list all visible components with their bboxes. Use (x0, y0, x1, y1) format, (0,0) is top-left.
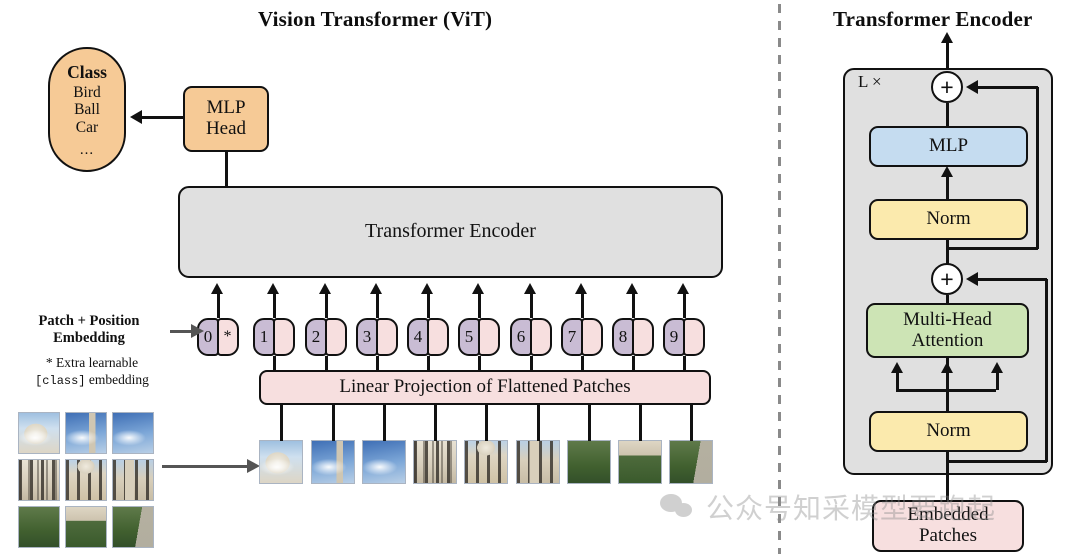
mlp-head-line2: Head (206, 119, 246, 140)
skip-bottom-horizontal-upper (977, 278, 1047, 281)
skip-bottom-arrowhead (966, 272, 978, 286)
token-3-position: 3 (356, 318, 378, 356)
flattened-patch-7 (567, 440, 611, 484)
patch-position-arrow-line (170, 330, 192, 333)
skip-top-horizontal-lower (946, 247, 1038, 250)
flattened-patch-4-connector (434, 405, 437, 441)
token-8-position: 8 (612, 318, 634, 356)
flattened-patch-5 (464, 440, 508, 484)
class-item-ball: Ball (74, 101, 100, 118)
multi-head-attention-block: Multi-Head Attention (866, 303, 1029, 358)
embedded-to-norm2-line (946, 452, 949, 502)
patch-position-line2: Embedding (13, 330, 165, 347)
token-6-embedding (530, 318, 552, 356)
token-4-to-encoder-line (427, 290, 430, 318)
mha-label-line1: Multi-Head (903, 310, 992, 331)
class-item-car: Car (76, 119, 98, 136)
token-3-embedding (376, 318, 398, 356)
patch-position-line1: Patch + Position (13, 313, 165, 330)
image-to-patches-line (162, 465, 248, 468)
token-5-position: 5 (458, 318, 480, 356)
norm-block-upper-label: Norm (926, 209, 970, 230)
source-patch-2 (65, 412, 107, 454)
flattened-patch-3 (362, 440, 406, 484)
token-7-position: 7 (561, 318, 583, 356)
skip-bottom-horizontal-lower (946, 460, 1047, 463)
token-2-position: 2 (305, 318, 327, 356)
token-4-position: 4 (407, 318, 429, 356)
source-patch-8 (65, 506, 107, 548)
diagram-canvas: Vision Transformer (ViT) Class Bird Ball… (0, 0, 1080, 558)
class-header: Class (67, 62, 107, 83)
transformer-encoder-box: Transformer Encoder (178, 186, 723, 278)
token-0-to-encoder-arrowhead (211, 283, 223, 294)
source-patch-7 (18, 506, 60, 548)
wechat-icon (660, 494, 696, 520)
residual-add-bottom: + (931, 263, 963, 295)
mlp-block: MLP (869, 126, 1028, 167)
patch-position-arrowhead (191, 324, 204, 338)
token-8-to-encoder-line (632, 290, 635, 318)
token-0-embedding: * (217, 318, 239, 356)
token-7-to-encoder-arrowhead (575, 283, 587, 294)
flattened-patch-8 (618, 440, 662, 484)
right-panel-title: Transformer Encoder (833, 7, 1033, 32)
embedded-patches-box: Embedded Patches (872, 500, 1024, 552)
token-5-to-encoder-line (478, 290, 481, 318)
source-patch-1 (18, 412, 60, 454)
token-2-to-encoder-line (325, 290, 328, 318)
mha-label-line2: Attention (912, 331, 984, 352)
token-9-position: 9 (663, 318, 685, 356)
skip-bottom-vertical (1045, 279, 1048, 462)
qkv-arrowhead-left (891, 362, 903, 373)
norm-block-lower-label: Norm (926, 421, 970, 442)
token-8: 8 (612, 318, 654, 356)
token-8-to-encoder-arrowhead (626, 283, 638, 294)
token-1-position: 1 (253, 318, 275, 356)
source-patch-6 (112, 459, 154, 501)
token-5: 5 (458, 318, 500, 356)
flattened-patch-1-connector (280, 405, 283, 441)
flattened-patch-9 (669, 440, 713, 484)
mlp-block-label: MLP (929, 136, 968, 157)
source-patch-9 (112, 506, 154, 548)
token-9: 9 (663, 318, 705, 356)
token-0-to-encoder-line (217, 290, 220, 318)
flattened-patch-9-connector (690, 405, 693, 441)
token-1: 1 (253, 318, 295, 356)
source-patch-5 (65, 459, 107, 501)
token-9-embedding (683, 318, 705, 356)
flattened-patch-4 (413, 440, 457, 484)
extra-learnable-label: * Extra learnable [class] embedding (16, 355, 168, 389)
mlp-to-class-arrowhead (130, 110, 142, 124)
token-3-to-encoder-line (376, 290, 379, 318)
token-6-to-encoder-line (530, 290, 533, 318)
skip-top-vertical (1036, 87, 1039, 249)
token-3: 3 (356, 318, 398, 356)
token-2: 2 (305, 318, 347, 356)
extra-learnable-line2: [class] embedding (16, 372, 168, 389)
mlp-head-connector (225, 152, 228, 188)
flattened-patch-2-connector (332, 405, 335, 441)
token-5-embedding (478, 318, 500, 356)
token-8-embedding (632, 318, 654, 356)
token-1-embedding (273, 318, 295, 356)
mlp-head-line1: MLP (206, 98, 245, 119)
flattened-patch-6 (516, 440, 560, 484)
norm-block-lower: Norm (869, 411, 1028, 452)
residual-add-top: + (931, 71, 963, 103)
norm-block-upper: Norm (869, 199, 1028, 240)
flattened-patch-8-connector (639, 405, 642, 441)
token-4: 4 (407, 318, 449, 356)
transformer-encoder-label: Transformer Encoder (365, 221, 536, 243)
flattened-patch-3-connector (383, 405, 386, 441)
class-item-bird: Bird (73, 84, 101, 101)
token-1-to-encoder-line (273, 290, 276, 318)
linear-projection-box: Linear Projection of Flattened Patches (259, 370, 711, 405)
token-6-to-encoder-arrowhead (524, 283, 536, 294)
class-output-box: Class Bird Ball Car ... (48, 47, 126, 172)
qkv-arrowhead-center (941, 362, 953, 373)
qkv-stem-right (996, 372, 999, 390)
patch-position-embedding-label: Patch + Position Embedding (13, 313, 165, 347)
token-6: 6 (510, 318, 552, 356)
token-5-to-encoder-arrowhead (472, 283, 484, 294)
skip-top-arrowhead (966, 80, 978, 94)
encoder-output-arrowhead (941, 32, 953, 43)
token-7-embedding (581, 318, 603, 356)
token-4-to-encoder-arrowhead (421, 283, 433, 294)
flattened-patch-6-connector (537, 405, 540, 441)
extra-learnable-line1: * Extra learnable (16, 355, 168, 372)
skip-top-horizontal-upper (977, 86, 1038, 89)
token-2-to-encoder-arrowhead (319, 283, 331, 294)
repeat-count-label: L × (858, 72, 882, 92)
mlp-to-add-line (946, 103, 949, 127)
flattened-patch-2 (311, 440, 355, 484)
token-2-embedding (325, 318, 347, 356)
token-3-to-encoder-arrowhead (370, 283, 382, 294)
linear-projection-label: Linear Projection of Flattened Patches (339, 377, 630, 398)
embedded-patches-line2: Patches (919, 526, 977, 547)
flattened-patch-1 (259, 440, 303, 484)
qkv-arrowhead-right (991, 362, 1003, 373)
token-1-to-encoder-arrowhead (267, 283, 279, 294)
left-panel-title: Vision Transformer (ViT) (258, 7, 492, 32)
mlp-to-class-line (142, 116, 186, 119)
embedded-patches-line1: Embedded (907, 505, 988, 526)
token-9-to-encoder-line (683, 290, 686, 318)
panel-divider (778, 4, 781, 554)
flattened-patch-5-connector (485, 405, 488, 441)
token-6-position: 6 (510, 318, 532, 356)
source-patch-4 (18, 459, 60, 501)
source-patch-3 (112, 412, 154, 454)
token-7: 7 (561, 318, 603, 356)
token-4-embedding (427, 318, 449, 356)
token-9-to-encoder-arrowhead (677, 283, 689, 294)
token-7-to-encoder-line (581, 290, 584, 318)
flattened-patch-7-connector (588, 405, 591, 441)
source-image-grid (18, 412, 154, 548)
mlp-head-box: MLP Head (183, 86, 269, 152)
norm1-to-mlp-arrowhead (941, 166, 953, 177)
qkv-stem-left (896, 372, 899, 390)
class-ellipsis: ... (80, 142, 94, 159)
